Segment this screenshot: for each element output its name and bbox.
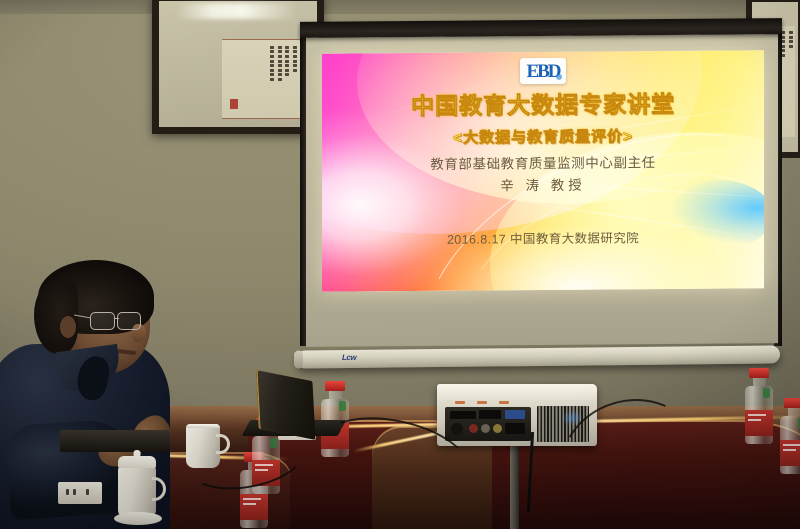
photo-vignette	[0, 0, 800, 529]
photo-scene: EBD 中国教育大数据专家讲堂 <大数据与教育质量评价> 教育部基础教育质量监测…	[0, 0, 800, 529]
